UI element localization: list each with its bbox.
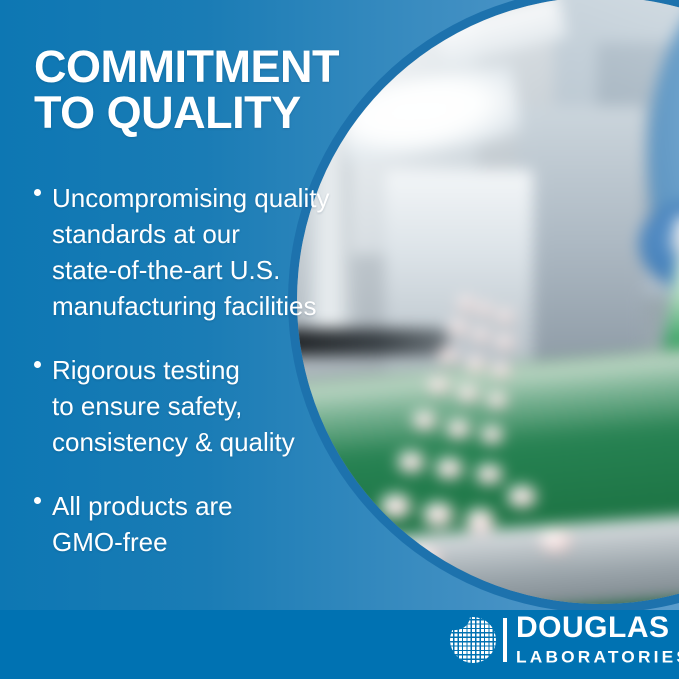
photo-tablet — [406, 547, 440, 574]
photo-tablet — [438, 348, 458, 364]
logo-secondary-name: LABORATORIES® — [516, 644, 679, 667]
logo-wordmark: DOUGLAS LABORATORIES® — [516, 614, 679, 667]
photo-tablet — [495, 335, 514, 350]
photo-tablet — [465, 356, 485, 372]
photo-tablet — [448, 320, 467, 335]
photo-tablet — [476, 303, 493, 316]
photo-tablet — [491, 363, 511, 379]
photo-machine-mid — [517, 106, 644, 371]
photo-tablet — [427, 377, 449, 394]
list-item-text: All products are GMO-free — [52, 491, 233, 557]
photo-tablet — [472, 329, 490, 343]
photo-tablet — [465, 509, 495, 532]
photo-tablet — [412, 411, 436, 430]
logo-divider — [503, 618, 507, 662]
benefits-list: Uncompromising quality standards at our … — [34, 180, 364, 588]
photo-tablet — [487, 392, 508, 409]
photo-tablet — [398, 452, 426, 473]
bullet-dot-icon — [34, 189, 41, 196]
photo-tablet — [476, 464, 503, 484]
grid-circle-icon — [450, 617, 496, 663]
photo-tablet — [540, 528, 572, 553]
photo-tablet — [436, 458, 464, 479]
photo-tablet — [480, 426, 503, 444]
brand-logo: DOUGLAS LABORATORIES® — [450, 615, 679, 665]
list-item-text: Uncompromising quality standards at our … — [52, 183, 329, 321]
list-item: Rigorous testing to ensure safety, consi… — [34, 352, 364, 460]
list-item: All products are GMO-free — [34, 488, 364, 560]
list-item: Uncompromising quality standards at our … — [34, 180, 364, 324]
photo-tablet — [446, 420, 470, 439]
bullet-dot-icon — [34, 497, 41, 504]
photo-tablet — [496, 310, 514, 324]
photo-tablet — [457, 297, 475, 311]
list-item-text: Rigorous testing to ensure safety, consi… — [52, 355, 295, 457]
promo-banner: COMMITMENT TO QUALITY Uncompromising qua… — [0, 0, 679, 679]
photo-tablet — [381, 494, 412, 518]
photo-tablet — [423, 502, 454, 526]
photo-tablet — [457, 386, 479, 403]
logo-primary-name: DOUGLAS — [516, 614, 679, 642]
logo-secondary-text: LABORATORIES — [516, 647, 679, 666]
photo-tablet — [508, 485, 537, 507]
page-title: COMMITMENT TO QUALITY — [34, 44, 364, 136]
bullet-dot-icon — [34, 361, 41, 368]
